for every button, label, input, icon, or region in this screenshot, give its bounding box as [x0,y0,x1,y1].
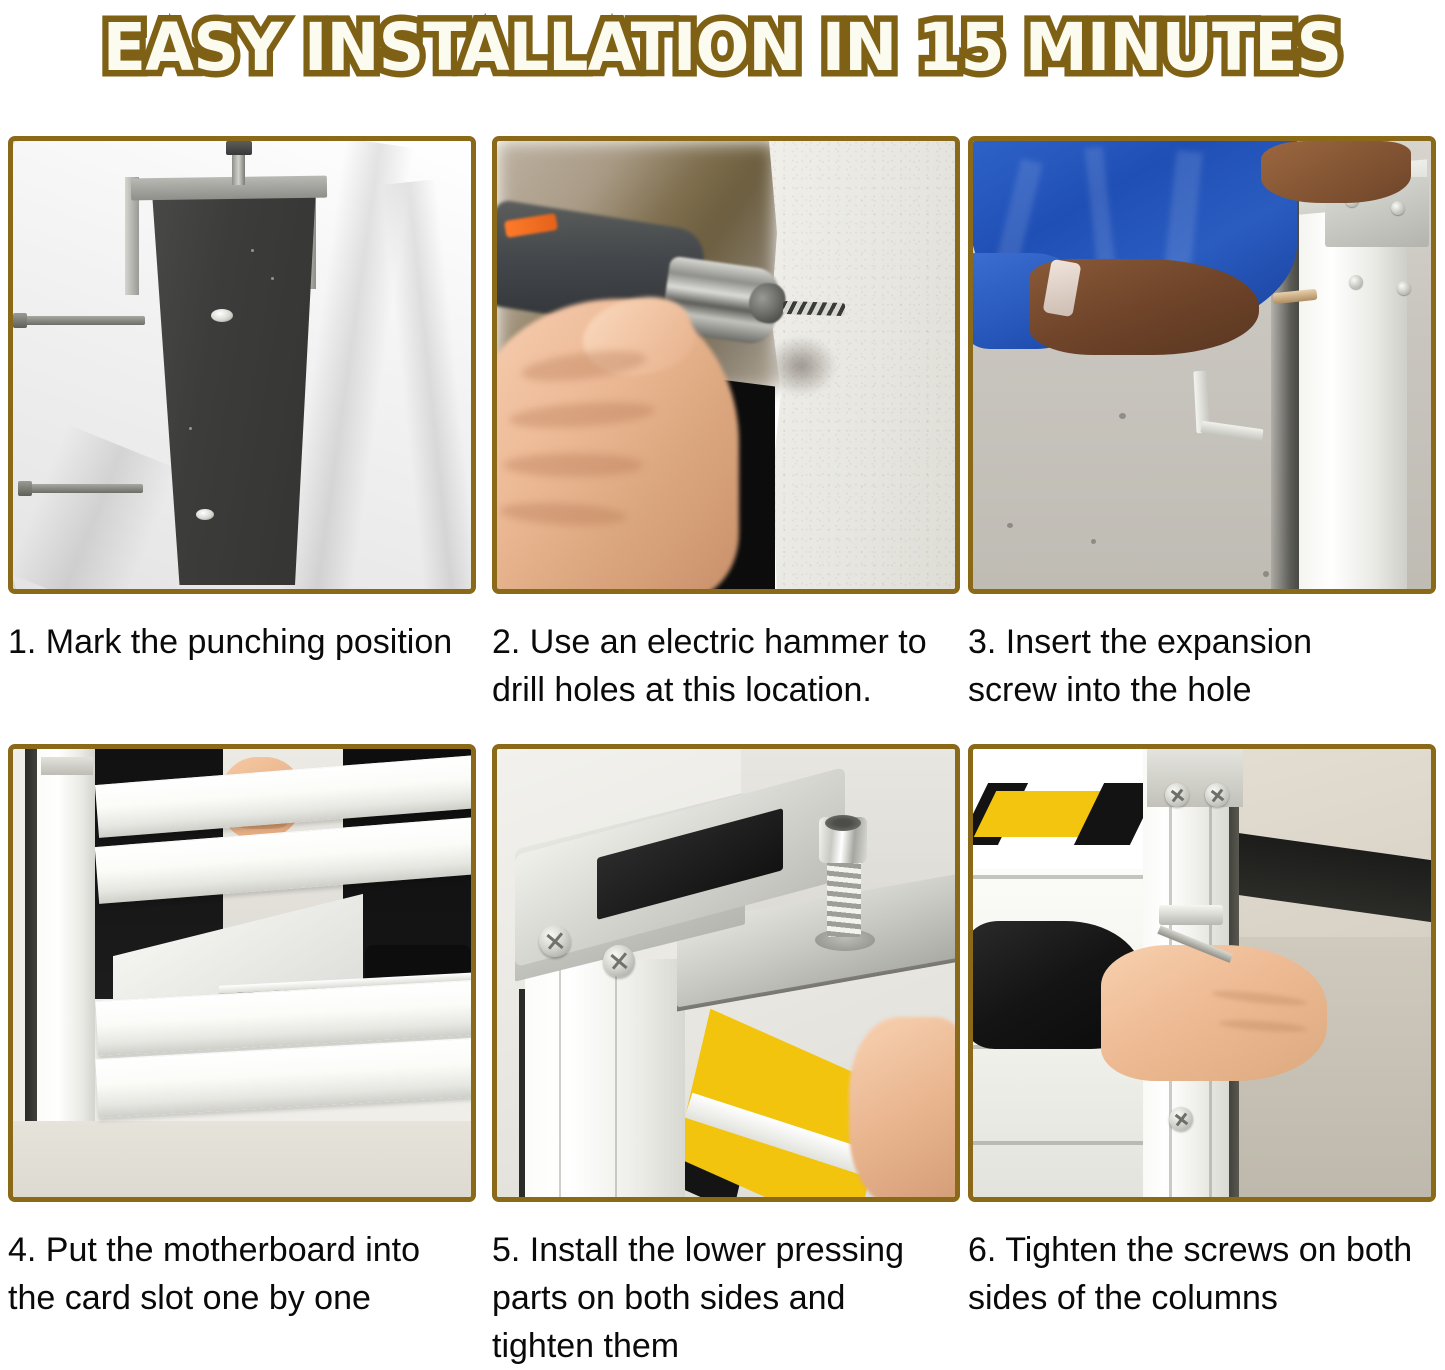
caption-line: 2. Use an electric hammer to [492,618,960,666]
steps-grid: 1. Mark the punching position [0,96,1445,1352]
step-card-2: 2. Use an electric hammer to drill holes… [492,136,970,714]
step-caption-6: 6. Tighten the screws on both sides of t… [968,1226,1436,1322]
step-caption-5: 5. Install the lower pressing parts on b… [492,1226,960,1370]
step-card-1: 1. Mark the punching position [8,136,486,666]
mark-punching-position-photo [8,136,476,594]
install-pressing-parts-photo [492,744,960,1202]
insert-expansion-screw-photo [968,136,1436,594]
caption-line: 1. Mark the punching position [8,618,476,666]
step-caption-2: 2. Use an electric hammer to drill holes… [492,618,960,714]
caption-line: drill holes at this location. [492,666,960,714]
step-card-4: 4. Put the motherboard into the card slo… [8,744,486,1322]
step-caption-1: 1. Mark the punching position [8,618,476,666]
step-caption-4: 4. Put the motherboard into the card slo… [8,1226,476,1322]
insert-motherboard-photo [8,744,476,1202]
caption-line: sides of the columns [968,1274,1436,1322]
step-card-6: 6. Tighten the screws on both sides of t… [968,744,1445,1322]
step-caption-3: 3. Insert the expansion screw into the h… [968,618,1436,714]
step-card-5: 5. Install the lower pressing parts on b… [492,744,970,1370]
header-banner: EASY INSTALLATION IN 15 MINUTES [0,0,1445,96]
caption-line: the card slot one by one [8,1274,476,1322]
caption-line: parts on both sides and [492,1274,960,1322]
caption-line: 5. Install the lower pressing [492,1226,960,1274]
caption-line: 3. Insert the expansion [968,618,1436,666]
page-title: EASY INSTALLATION IN 15 MINUTES [103,15,1341,81]
tighten-screws-photo [968,744,1436,1202]
caption-line: screw into the hole [968,666,1436,714]
step-card-3: 3. Insert the expansion screw into the h… [968,136,1445,714]
caption-line: 4. Put the motherboard into [8,1226,476,1274]
caption-line: tighten them [492,1322,960,1370]
drill-holes-photo [492,136,960,594]
caption-line: 6. Tighten the screws on both [968,1226,1436,1274]
